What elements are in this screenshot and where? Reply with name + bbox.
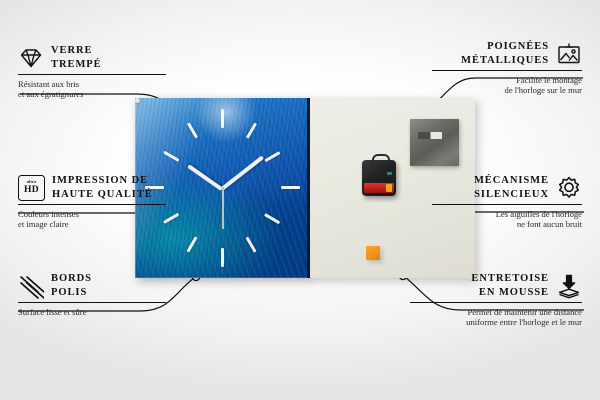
callout-title-line1: VERRE: [51, 44, 102, 58]
diamond-icon: [18, 45, 44, 71]
callout-rule: [18, 204, 166, 205]
tick-mark: [246, 237, 257, 253]
callout-desc-line1: Couleurs intenses: [18, 209, 168, 220]
callout-mecanisme-silencieux: MÉCANISME SILENCIEUX Les aiguilles de l'…: [432, 174, 582, 230]
callout-impression-haute-qualite: ultra HD IMPRESSION DE HAUTE QUALITÉ Cou…: [18, 174, 168, 230]
callout-rule: [432, 70, 582, 71]
arrow-onto-pad-icon: [556, 273, 582, 299]
tick-mark: [246, 123, 257, 139]
tick-mark: [264, 213, 280, 224]
callout-title-line1: IMPRESSION DE: [52, 174, 153, 188]
minute-hand: [221, 155, 265, 190]
callout-title-line2: HAUTE QUALITÉ: [52, 188, 153, 202]
callout-title-line2: MÉTALLIQUES: [461, 54, 549, 68]
callout-title-line2: SILENCIEUX: [474, 188, 549, 202]
callout-desc-line1: Facilite le montage: [432, 75, 582, 86]
callout-title-line1: ENTRETOISE: [471, 272, 549, 286]
product-image: [135, 98, 475, 278]
mechanism-label: [387, 172, 392, 175]
foam-spacer: [366, 246, 380, 260]
tick-mark: [221, 109, 224, 128]
callout-title-line1: POIGNÉES: [461, 40, 549, 54]
callout-poignees-metalliques: POIGNÉES MÉTALLIQUES Facilite le montage…: [432, 40, 582, 96]
tick-mark: [163, 151, 179, 162]
callout-entretoise-en-mousse: ENTRETOISE EN MOUSSE Permet de maintenir…: [410, 272, 582, 328]
callout-desc-line1: Surface lisse et sûre: [18, 307, 168, 318]
gear-icon: [556, 175, 582, 201]
callout-rule: [18, 302, 166, 303]
second-hand: [222, 187, 224, 229]
metal-hanger: [410, 119, 459, 166]
ultra-hd-large-text: HD: [24, 185, 39, 195]
callout-title-line2: TREMPÉ: [51, 58, 102, 72]
callout-title-line2: EN MOUSSE: [471, 286, 549, 300]
callout-rule: [410, 302, 582, 303]
callout-rule: [432, 204, 582, 205]
tick-mark: [187, 123, 198, 139]
callout-title-line2: POLIS: [51, 286, 92, 300]
tick-mark: [281, 186, 300, 189]
callout-desc-line2: uniforme entre l'horloge et le mur: [410, 317, 582, 328]
callout-desc-line2: de l'horloge sur le mur: [432, 85, 582, 96]
infographic-stage: VERRE TREMPÉ Résistant aux bris et aux é…: [0, 0, 600, 400]
picture-frame-icon: [556, 41, 582, 67]
tick-mark: [221, 248, 224, 267]
callout-desc-line2: et aux égratignures: [18, 89, 168, 100]
tick-mark: [264, 151, 280, 162]
ultra-hd-icon: ultra HD: [18, 175, 45, 201]
callout-rule: [18, 74, 166, 75]
callout-desc-line1: Résistant aux bris: [18, 79, 168, 90]
callout-desc-line1: Permet de maintenir une distance: [410, 307, 582, 318]
callout-title-line1: BORDS: [51, 272, 92, 286]
diagonal-lines-icon: [18, 273, 44, 299]
mechanism-hook: [372, 154, 390, 165]
hanger-slot: [418, 132, 442, 139]
battery: [364, 183, 394, 193]
clock-mechanism: [362, 160, 396, 196]
callout-desc-line2: ne font aucun bruit: [432, 219, 582, 230]
callout-desc-line1: Les aiguilles de l'horloge: [432, 209, 582, 220]
hour-hand: [187, 164, 223, 191]
callout-verre-trempe: VERRE TREMPÉ Résistant aux bris et aux é…: [18, 44, 168, 100]
tick-mark: [187, 237, 198, 253]
callout-title-line1: MÉCANISME: [474, 174, 549, 188]
callout-desc-line2: et image claire: [18, 219, 168, 230]
callout-bords-polis: BORDS POLIS Surface lisse et sûre: [18, 272, 168, 317]
